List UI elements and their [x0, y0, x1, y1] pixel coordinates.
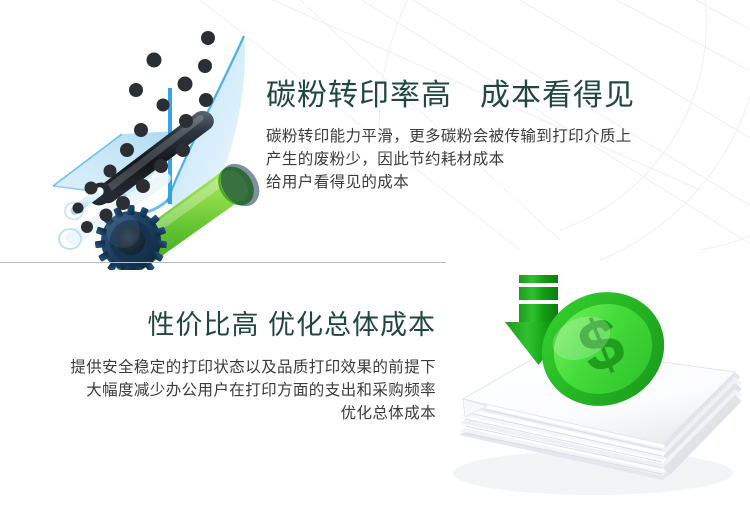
paper-stack-coin-illustration: $ [443, 265, 750, 507]
body-line: 产生的废粉少，因此节约耗材成本 [266, 148, 666, 171]
section-body-cost-performance: 提供安全稳定的打印状态以及品质打印效果的前提下 大幅度减少办公用户在打印方面的支… [34, 356, 436, 425]
section-divider [0, 262, 446, 263]
toner-transfer-text-block: 碳粉转印率高 成本看得见 碳粉转印能力平滑，更多碳粉会被传输到打印介质上 产生的… [266, 76, 666, 194]
section-title-cost-performance: 性价比高 优化总体成本 [34, 306, 436, 344]
body-line: 碳粉转印能力平滑，更多碳粉会被传输到打印介质上 [266, 125, 666, 148]
section-body-toner-transfer: 碳粉转印能力平滑，更多碳粉会被传输到打印介质上 产生的废粉少，因此节约耗材成本 … [266, 125, 666, 194]
promo-page: 碳粉转印率高 成本看得见 碳粉转印能力平滑，更多碳粉会被传输到打印介质上 产生的… [0, 0, 750, 507]
cost-performance-text-block: 性价比高 优化总体成本 提供安全稳定的打印状态以及品质打印效果的前提下 大幅度减… [34, 306, 436, 425]
body-line: 给用户看得见的成本 [266, 171, 666, 194]
body-line: 大幅度减少办公用户在打印方面的支出和采购频率 [34, 379, 436, 402]
section-title-toner-transfer: 碳粉转印率高 成本看得见 [266, 76, 666, 116]
body-line: 提供安全稳定的打印状态以及品质打印效果的前提下 [34, 356, 436, 379]
body-line: 优化总体成本 [34, 402, 436, 425]
toner-drum-transfer-illustration [48, 8, 278, 270]
